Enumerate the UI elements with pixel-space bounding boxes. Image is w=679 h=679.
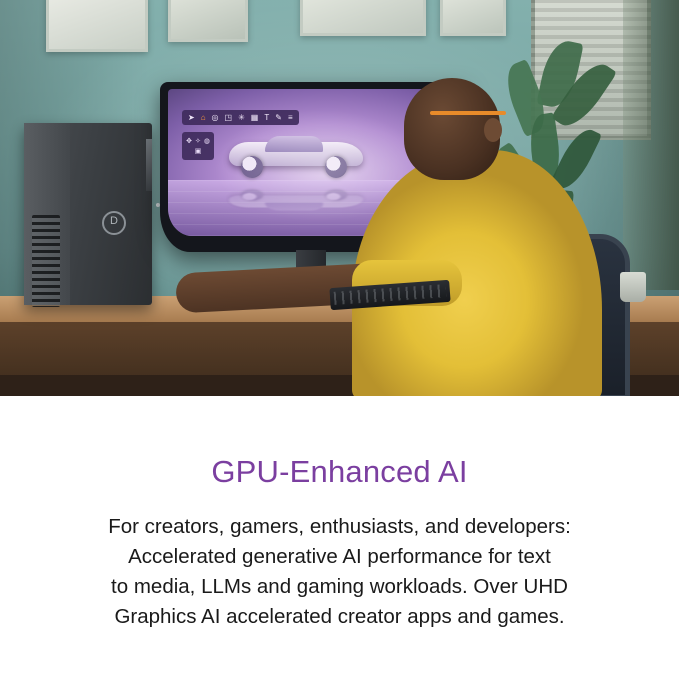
dell-desktop-tower: D [24,123,152,305]
person-ear [484,118,502,142]
grid-icon[interactable]: ▦ [251,114,259,122]
wall-frame [300,0,426,36]
node-icon[interactable]: ✧ [195,138,201,145]
caption-block: GPU-Enhanced AI For creators, gamers, en… [0,396,679,679]
dell-logo: D [102,211,126,235]
sliders-icon[interactable]: ≡ [288,114,293,122]
body-line: For creators, gamers, enthusiasts, and d… [0,512,679,542]
sun-icon[interactable]: ✳ [238,114,245,122]
lifestyle-photo: D [0,0,679,396]
layers-icon[interactable]: ◳ [225,114,233,122]
tower-front-strip [146,139,152,191]
product-feature-card: D [0,0,679,679]
body-copy: For creators, gamers, enthusiasts, and d… [0,490,679,632]
wall-frame [46,0,148,52]
body-line: Accelerated generative AI performance fo… [0,542,679,572]
cursor-icon[interactable]: ➤ [188,114,195,122]
sphere-icon[interactable]: ◍ [204,138,210,145]
headline: GPU-Enhanced AI [0,396,679,490]
app-toolbar[interactable]: ➤ ⌂ ◎ ◳ ✳ ▦ T ✎ ≡ [182,110,299,125]
brush-icon[interactable]: ✎ [275,114,282,122]
cube-icon[interactable]: ▣ [195,148,202,155]
home-icon[interactable]: ⌂ [201,114,206,122]
wall-frame [440,0,506,36]
app-tool-panel[interactable]: ✥ ✧ ◍ ▣ [182,132,214,160]
body-line: to media, LLMs and gaming workloads. Ove… [0,572,679,602]
search-icon[interactable]: ◎ [212,114,219,122]
wall-frame [168,0,248,42]
eyeglasses [430,108,506,120]
text-icon[interactable]: T [264,114,269,122]
cup [620,272,646,302]
body-line: Graphics AI accelerated creator apps and… [0,602,679,632]
tower-vents [32,215,60,307]
move-icon[interactable]: ✥ [186,138,192,145]
